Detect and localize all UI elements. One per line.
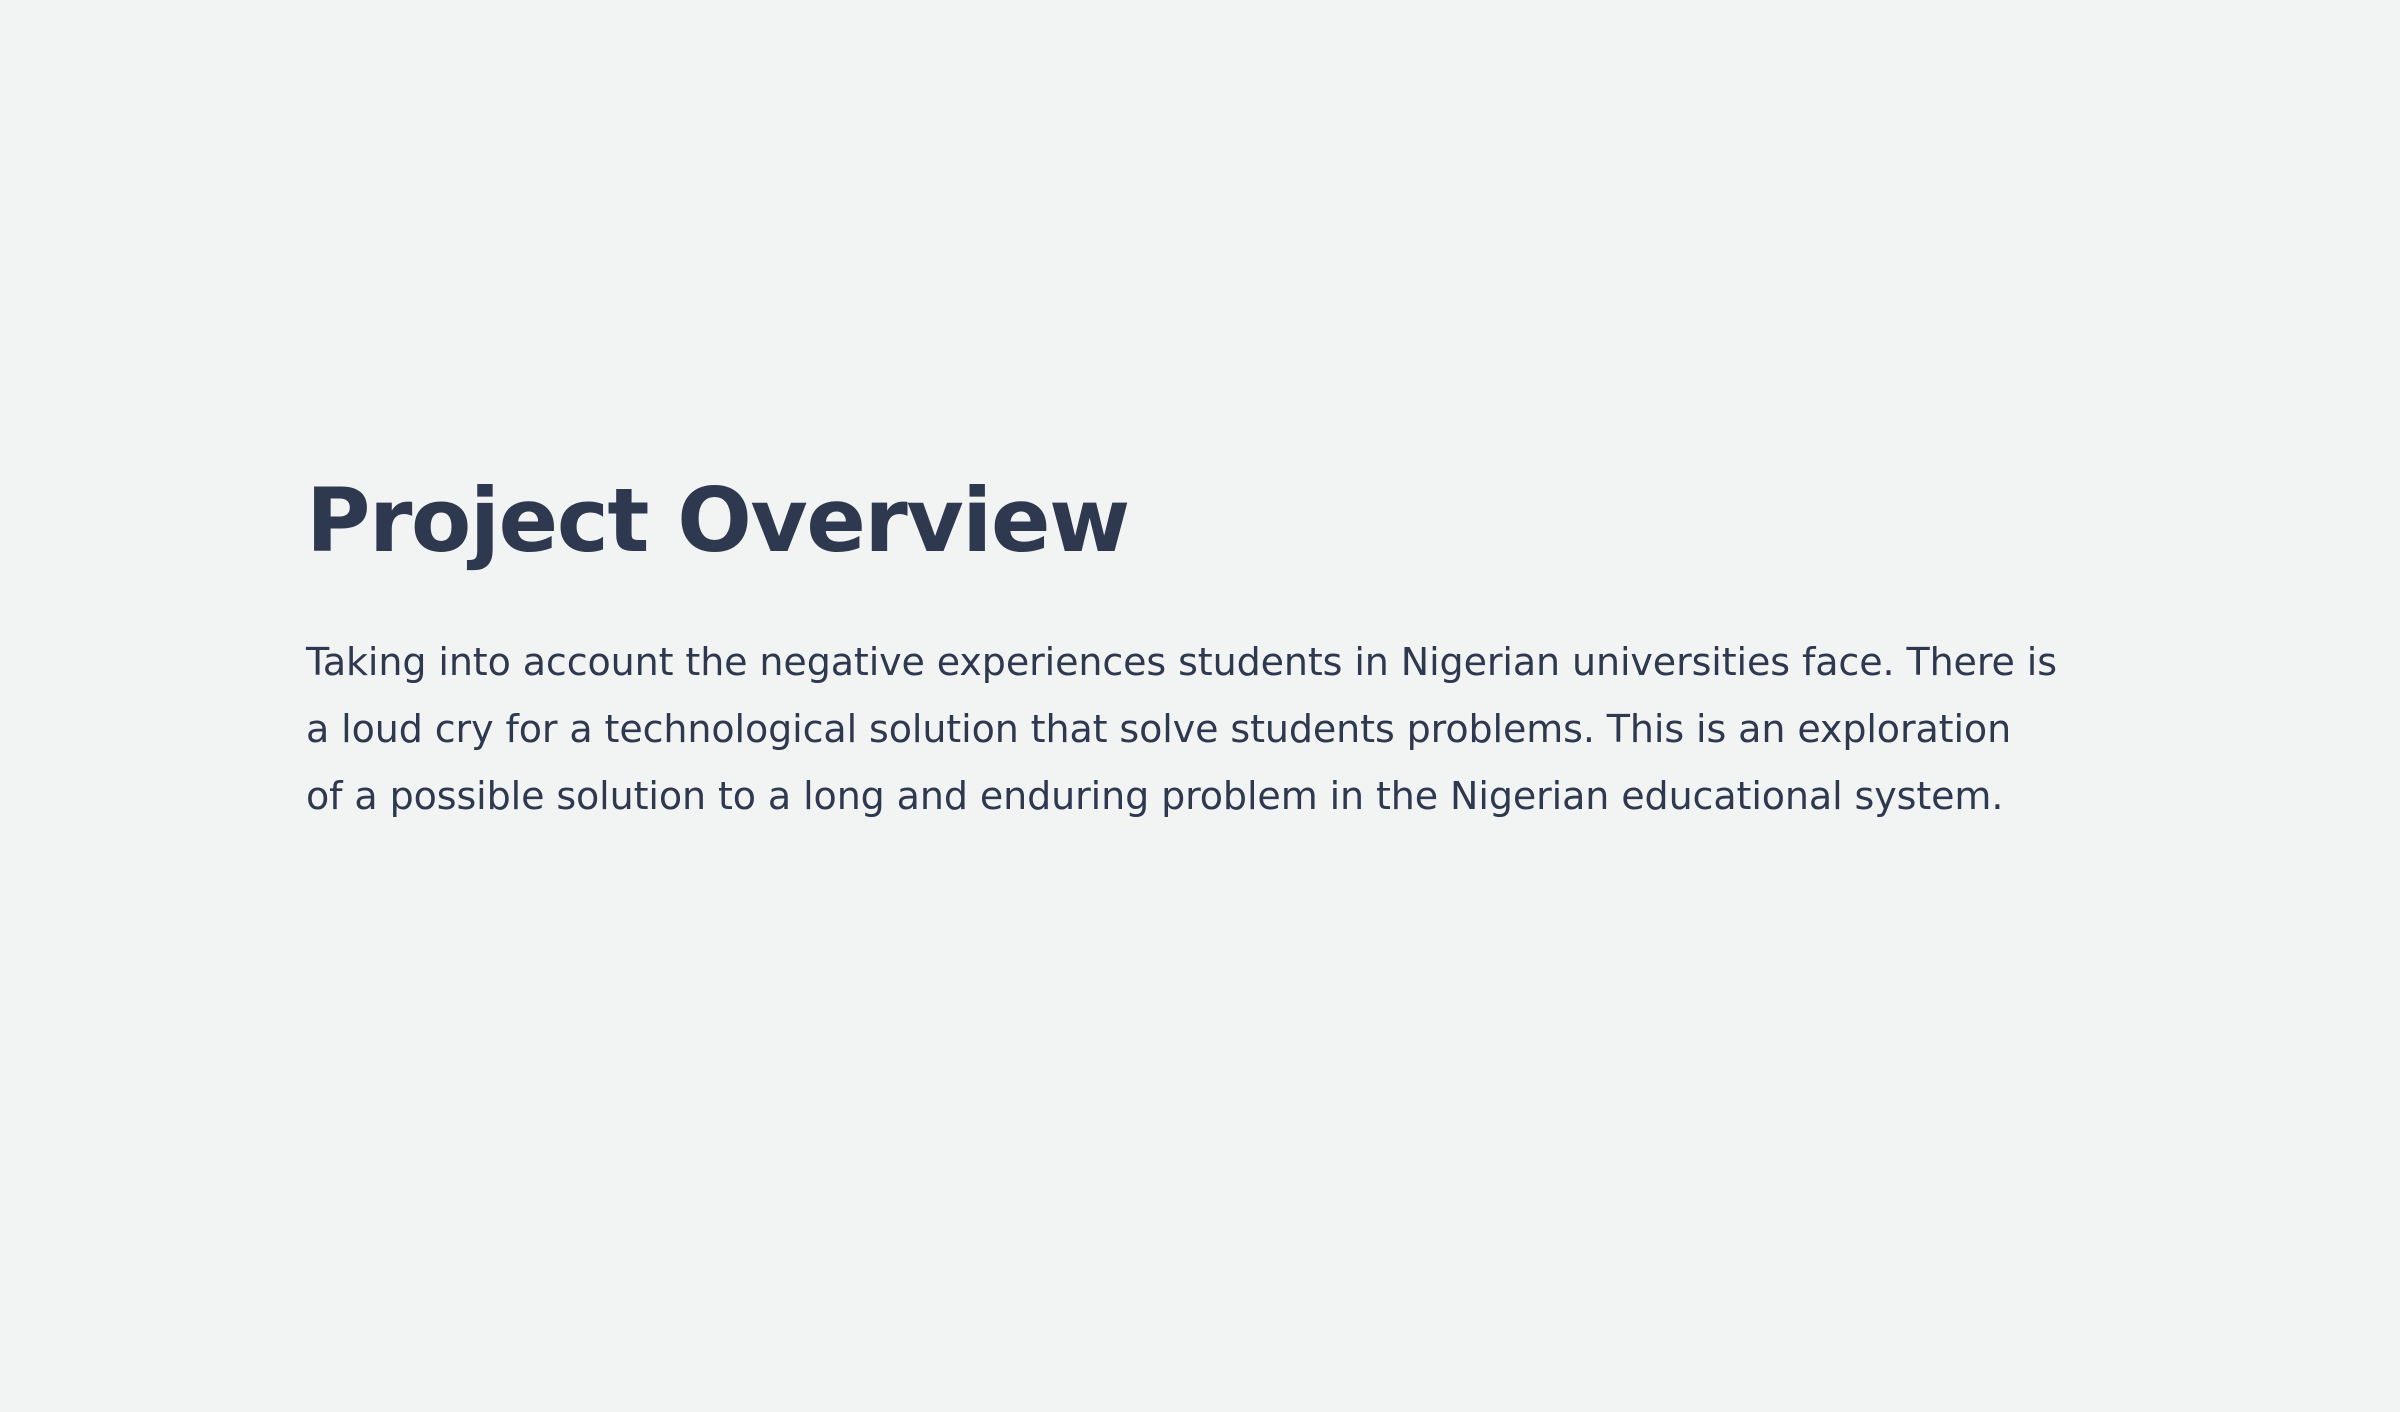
page-root: Project Overview Taking into account the… [0, 0, 2400, 1412]
page-title: Project Overview [306, 470, 2066, 571]
project-overview-section: Project Overview Taking into account the… [306, 470, 2066, 830]
section-description: Taking into account the negative experie… [306, 629, 2058, 830]
